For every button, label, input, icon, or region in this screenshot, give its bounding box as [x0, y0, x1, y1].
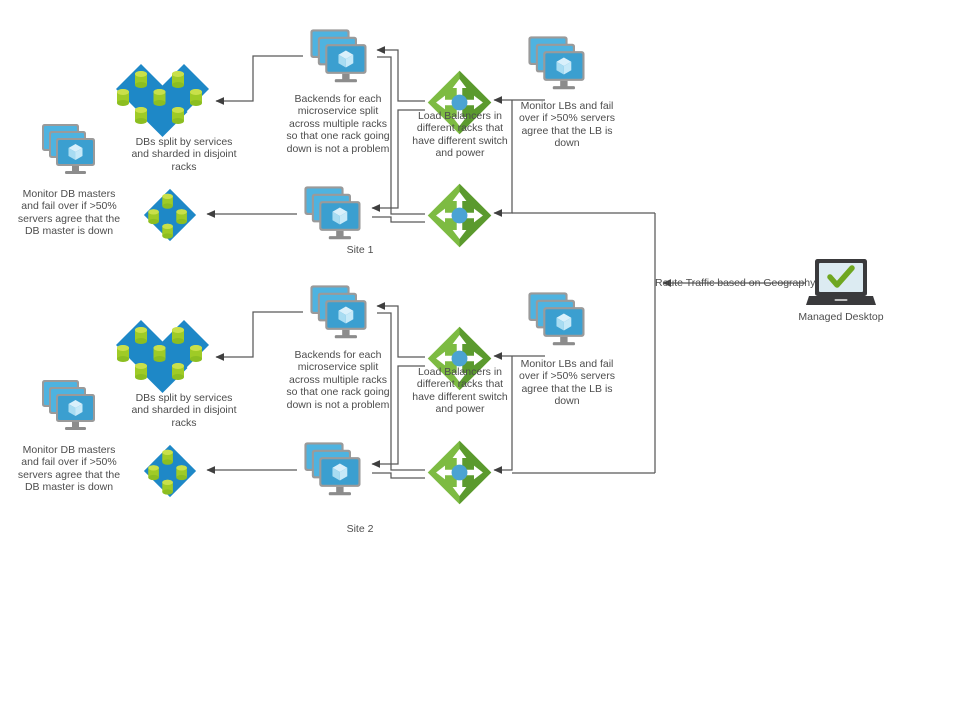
database-cluster-icon — [110, 58, 215, 138]
site2-lb-caption: Load Balancers in different racks that h… — [404, 366, 516, 416]
site2-backends-icon[interactable] — [303, 282, 375, 348]
managed-desktop-caption: Managed Desktop — [790, 311, 892, 323]
wire-s1-lbbottom-to-backendslower — [372, 217, 425, 222]
site1-backends-icon[interactable] — [303, 26, 375, 92]
server-stack-icon — [303, 282, 375, 348]
site2-db-monitor-icon[interactable] — [35, 377, 103, 439]
site1-lb-monitor-caption: Monitor LBs and fail over if >50% server… — [511, 100, 623, 150]
server-stack-icon — [35, 121, 103, 183]
load-balancer-icon — [425, 181, 494, 250]
site1-db-cluster-caption: DBs split by services and sharded in dis… — [108, 136, 260, 173]
site2-lb-monitor-caption: Monitor LBs and fail over if >50% server… — [511, 358, 623, 408]
wire-s2-lbbottom-to-backendslower — [372, 473, 425, 478]
site2-db-cluster-caption: DBs split by services and sharded in dis… — [108, 392, 260, 429]
site1-db-monitor-caption: Monitor DB masters and fail over if >50%… — [8, 188, 130, 238]
site-2-label: Site 2 — [330, 523, 390, 535]
site1-lb-bottom-icon[interactable] — [425, 181, 494, 250]
site2-db-cluster-icon[interactable] — [110, 314, 215, 394]
database-icon — [141, 186, 199, 244]
site1-backends-lower-icon[interactable] — [297, 183, 369, 249]
site1-lb-monitor-icon[interactable] — [521, 33, 593, 99]
database-icon — [141, 442, 199, 500]
load-balancer-icon — [425, 438, 494, 507]
route-traffic-label: Route Traffic based on Geography — [655, 277, 810, 289]
site2-db-small-icon[interactable] — [141, 442, 199, 500]
laptop-check-icon — [806, 258, 876, 310]
site1-db-cluster-icon[interactable] — [110, 58, 215, 138]
site1-db-small-icon[interactable] — [141, 186, 199, 244]
site2-backends-caption: Backends for each microservice split acr… — [281, 349, 395, 411]
server-stack-icon — [297, 439, 369, 505]
site1-db-monitor-icon[interactable] — [35, 121, 103, 183]
server-stack-icon — [303, 26, 375, 92]
site2-db-monitor-caption: Monitor DB masters and fail over if >50%… — [8, 444, 130, 494]
server-stack-icon — [521, 33, 593, 99]
diagram-canvas: DBs split by services and sharded in dis… — [0, 0, 960, 720]
site2-lb-bottom-icon[interactable] — [425, 438, 494, 507]
site1-backends-caption: Backends for each microservice split acr… — [281, 93, 395, 155]
site2-backends-lower-icon[interactable] — [297, 439, 369, 505]
site1-lb-caption: Load Balancers in different racks that h… — [404, 110, 516, 160]
server-stack-icon — [35, 377, 103, 439]
server-stack-icon — [521, 289, 593, 355]
site-1-label: Site 1 — [330, 244, 390, 256]
managed-desktop-icon[interactable] — [806, 258, 876, 310]
server-stack-icon — [297, 183, 369, 249]
database-cluster-icon — [110, 314, 215, 394]
site2-lb-monitor-icon[interactable] — [521, 289, 593, 355]
